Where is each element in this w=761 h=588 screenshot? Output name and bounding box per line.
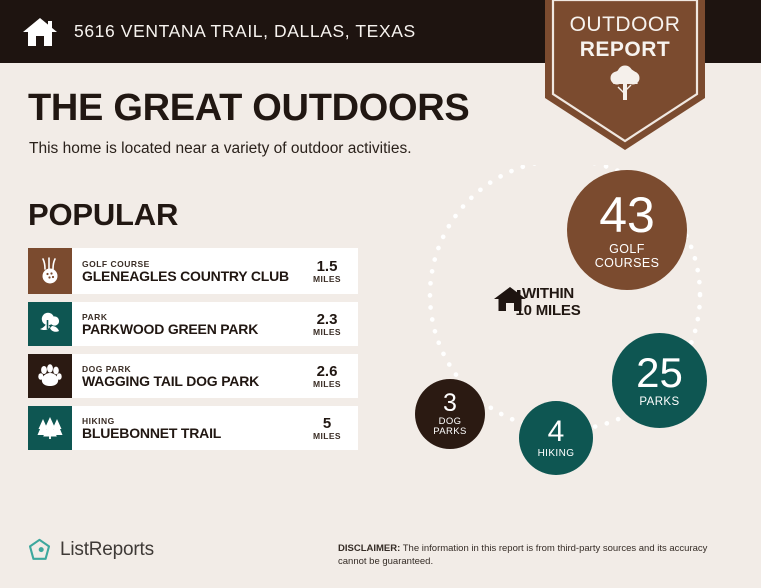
list-item-distance: 5 MILES bbox=[302, 406, 358, 450]
distance-value: 2.3 bbox=[317, 312, 338, 327]
listreports-logo-icon bbox=[28, 538, 51, 562]
bubble-chart: 43 GOLF COURSES 25 PARKS 4 HIKING 3 DOG … bbox=[395, 165, 761, 510]
outdoor-report-badge: OUTDOOR REPORT bbox=[545, 0, 705, 150]
distance-value: 1.5 bbox=[317, 259, 338, 274]
list-item-text: DOG PARK WAGGING TAIL DOG PARK bbox=[72, 354, 302, 398]
page-title: THE GREAT OUTDOORS bbox=[28, 87, 469, 130]
list-item-category: DOG PARK bbox=[82, 364, 302, 374]
distance-unit: MILES bbox=[313, 274, 341, 284]
list-item-name: BLUEBONNET TRAIL bbox=[82, 426, 302, 441]
list-item-category: GOLF COURSE bbox=[82, 259, 302, 269]
list-item-distance: 1.5 MILES bbox=[302, 248, 358, 294]
golf-icon bbox=[28, 248, 72, 294]
list-item[interactable]: HIKING BLUEBONNET TRAIL 5 MILES bbox=[28, 406, 358, 450]
stat-label-line2: COURSES bbox=[595, 257, 660, 270]
stat-value: 3 bbox=[443, 391, 457, 416]
stat-value: 25 bbox=[636, 352, 683, 394]
list-item-name: PARKWOOD GREEN PARK bbox=[82, 322, 302, 337]
pine-trees-icon bbox=[28, 406, 72, 450]
badge-text: OUTDOOR REPORT bbox=[545, 12, 705, 62]
disclaimer: DISCLAIMER: The information in this repo… bbox=[338, 543, 738, 568]
stat-label-line1: HIKING bbox=[538, 449, 575, 460]
badge-line2: REPORT bbox=[545, 37, 705, 62]
list-item[interactable]: PARK PARKWOOD GREEN PARK 2.3 MILES bbox=[28, 302, 358, 346]
listreports-logo[interactable]: ListReports bbox=[28, 538, 154, 562]
list-item-distance: 2.3 MILES bbox=[302, 302, 358, 346]
list-item-text: GOLF COURSE GLENEAGLES COUNTRY CLUB bbox=[72, 248, 302, 294]
list-item-distance: 2.6 MILES bbox=[302, 354, 358, 398]
home-icon bbox=[22, 16, 58, 48]
list-item[interactable]: GOLF COURSE GLENEAGLES COUNTRY CLUB 1.5 … bbox=[28, 248, 358, 294]
stat-bubble-dog-parks[interactable]: 3 DOG PARKS bbox=[415, 379, 485, 449]
distance-unit: MILES bbox=[313, 431, 341, 441]
stat-label-line1: GOLF bbox=[609, 243, 645, 256]
stat-label-line2: PARKS bbox=[433, 427, 467, 437]
list-item-text: PARK PARKWOOD GREEN PARK bbox=[72, 302, 302, 346]
stat-bubble-hiking[interactable]: 4 HIKING bbox=[519, 401, 593, 475]
stat-value: 43 bbox=[599, 190, 655, 240]
list-item-category: PARK bbox=[82, 312, 302, 322]
distance-value: 5 bbox=[323, 416, 331, 431]
distance-value: 2.6 bbox=[317, 364, 338, 379]
list-item[interactable]: DOG PARK WAGGING TAIL DOG PARK 2.6 MILES bbox=[28, 354, 358, 398]
stat-bubble-parks[interactable]: 25 PARKS bbox=[612, 333, 707, 428]
distance-unit: MILES bbox=[313, 379, 341, 389]
list-item-name: WAGGING TAIL DOG PARK bbox=[82, 374, 302, 389]
list-item-category: HIKING bbox=[82, 416, 302, 426]
stat-label-line1: PARKS bbox=[639, 396, 679, 408]
stat-value: 4 bbox=[548, 417, 565, 447]
home-icon bbox=[493, 285, 527, 313]
popular-list: GOLF COURSE GLENEAGLES COUNTRY CLUB 1.5 … bbox=[28, 248, 358, 458]
page-subtitle: This home is located near a variety of o… bbox=[29, 140, 412, 158]
badge-line1: OUTDOOR bbox=[545, 12, 705, 37]
disclaimer-label: DISCLAIMER: bbox=[338, 543, 400, 554]
paw-icon bbox=[28, 354, 72, 398]
popular-heading: POPULAR bbox=[28, 197, 178, 233]
list-item-name: GLENEAGLES COUNTRY CLUB bbox=[82, 269, 302, 284]
property-address: 5616 VENTANA TRAIL, DALLAS, TEXAS bbox=[74, 21, 416, 42]
distance-unit: MILES bbox=[313, 327, 341, 337]
listreports-logo-text: ListReports bbox=[60, 539, 154, 561]
park-tree-icon bbox=[28, 302, 72, 346]
list-item-text: HIKING BLUEBONNET TRAIL bbox=[72, 406, 302, 450]
radius-annotation: WITHIN 10 MILES bbox=[493, 285, 603, 319]
stat-bubble-golf-courses[interactable]: 43 GOLF COURSES bbox=[567, 170, 687, 290]
